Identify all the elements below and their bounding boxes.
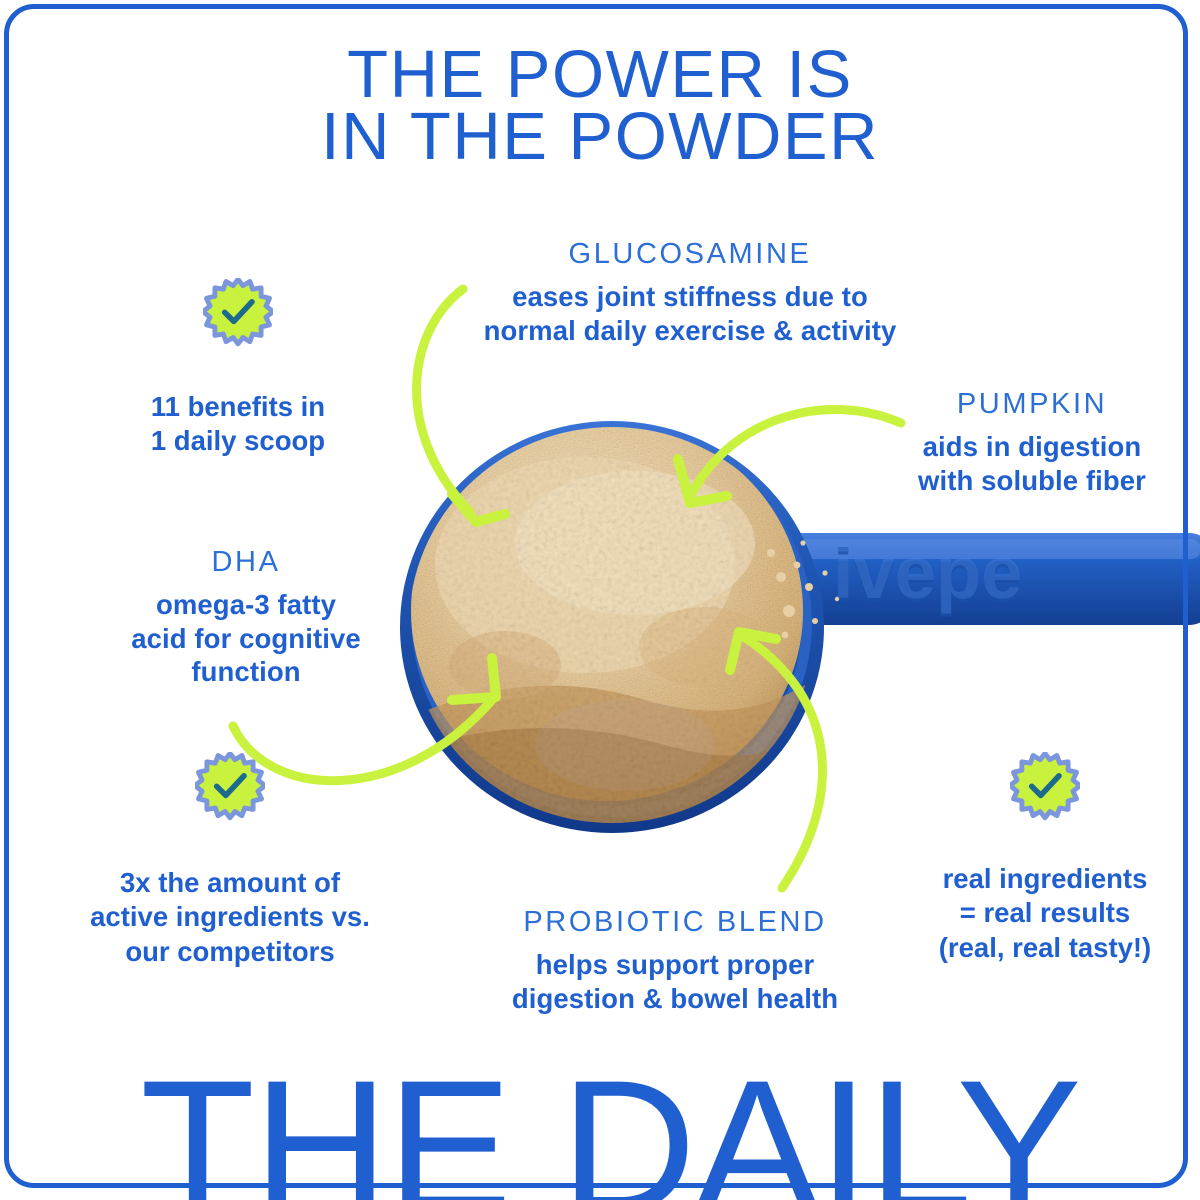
callout-title: PUMPKIN: [872, 388, 1192, 421]
check-badge-icon: [1010, 752, 1080, 822]
benefit-text: 3x the amount of active ingredients vs. …: [70, 866, 390, 969]
callout-body-line: acid for cognitive: [96, 622, 396, 656]
callout-body-line: digestion & bowel health: [470, 982, 880, 1016]
callout-title: GLUCOSAMINE: [420, 238, 960, 271]
callout-pumpkin: PUMPKIN aids in digestion with soluble f…: [872, 388, 1192, 497]
callout-body-line: with soluble fiber: [872, 464, 1192, 498]
check-badge-icon: [203, 278, 273, 348]
callout-body: aids in digestion with soluble fiber: [872, 430, 1192, 497]
callout-body-line: eases joint stiffness due to: [420, 280, 960, 314]
callout-title: DHA: [96, 546, 396, 579]
callout-body: omega-3 fatty acid for cognitive functio…: [96, 588, 396, 689]
check-badge-icon: [195, 752, 265, 822]
benefit-line: active ingredients vs.: [70, 900, 390, 934]
headline-line-2: IN THE POWDER: [0, 106, 1200, 168]
benefit-text: real ingredients = real results (real, r…: [885, 862, 1200, 965]
callout-body: helps support proper digestion & bowel h…: [470, 948, 880, 1015]
benefit-line: our competitors: [70, 935, 390, 969]
callout-body: eases joint stiffness due to normal dail…: [420, 280, 960, 347]
callout-probiotic-blend: PROBIOTIC BLEND helps support proper dig…: [470, 906, 880, 1015]
callout-dha: DHA omega-3 fatty acid for cognitive fun…: [96, 546, 396, 689]
callout-title: PROBIOTIC BLEND: [470, 906, 880, 939]
callout-body-line: function: [96, 655, 396, 689]
benefit-line: = real results: [885, 896, 1200, 930]
infographic-canvas: ivepe ivepe: [0, 0, 1200, 1200]
benefit-line: 1 daily scoop: [78, 424, 398, 458]
callout-body-line: helps support proper: [470, 948, 880, 982]
benefit-line: (real, real tasty!): [885, 931, 1200, 965]
brand-wordmark: THE DAILY: [0, 1052, 1200, 1200]
callout-body-line: normal daily exercise & activity: [420, 314, 960, 348]
callout-body-line: omega-3 fatty: [96, 588, 396, 622]
benefit-active-ingredients: 3x the amount of active ingredients vs. …: [70, 752, 390, 969]
benefit-text: 11 benefits in 1 daily scoop: [78, 390, 398, 459]
benefit-line: real ingredients: [885, 862, 1200, 896]
callout-body-line: aids in digestion: [872, 430, 1192, 464]
svg-text:ivepe: ivepe: [833, 531, 1022, 614]
callout-glucosamine: GLUCOSAMINE eases joint stiffness due to…: [420, 238, 960, 347]
benefit-real-ingredients: real ingredients = real results (real, r…: [885, 752, 1200, 965]
page-title: THE POWER IS IN THE POWDER: [0, 44, 1200, 167]
benefit-daily-scoop: 11 benefits in 1 daily scoop: [78, 278, 398, 459]
benefit-line: 11 benefits in: [78, 390, 398, 424]
benefit-line: 3x the amount of: [70, 866, 390, 900]
